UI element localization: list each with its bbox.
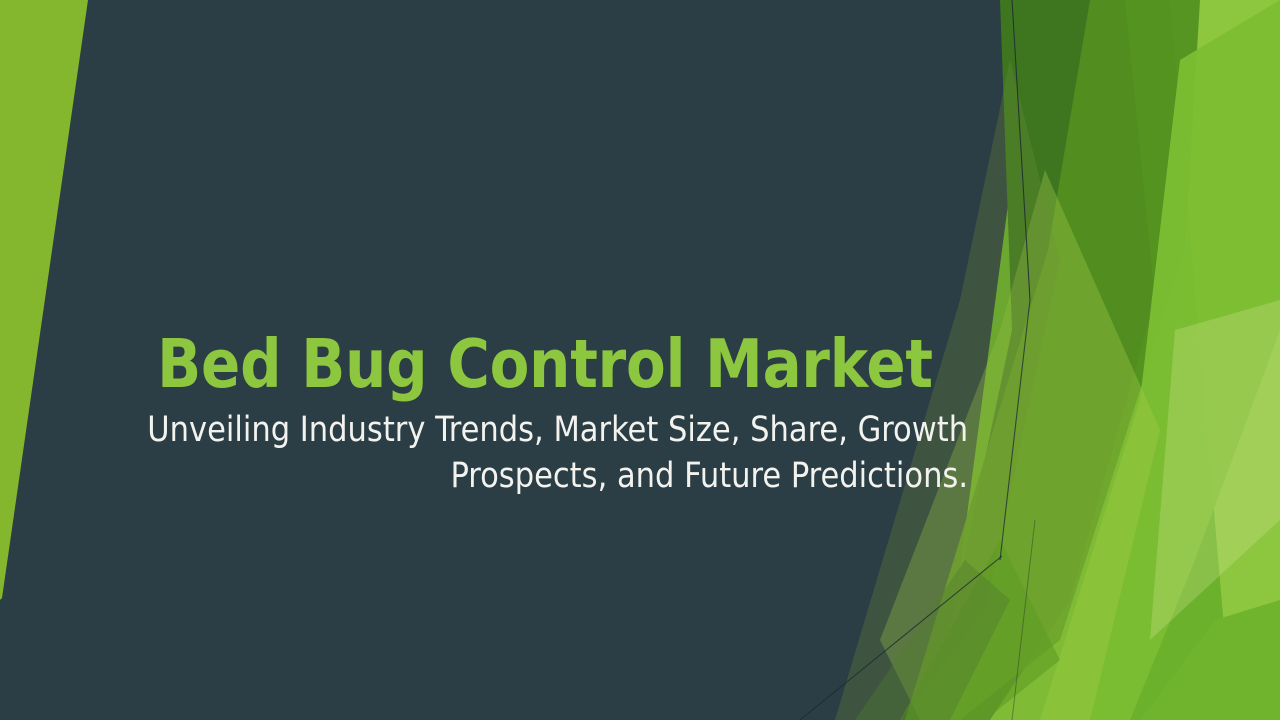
slide-subtitle: Unveiling Industry Trends, Market Size, …: [146, 408, 971, 499]
slide-title: Bed Bug Control Market: [137, 330, 953, 398]
presentation-slide: Bed Bug Control Market Unveiling Industr…: [0, 0, 1280, 720]
title-text-container: Bed Bug Control Market Unveiling Industr…: [120, 330, 970, 499]
